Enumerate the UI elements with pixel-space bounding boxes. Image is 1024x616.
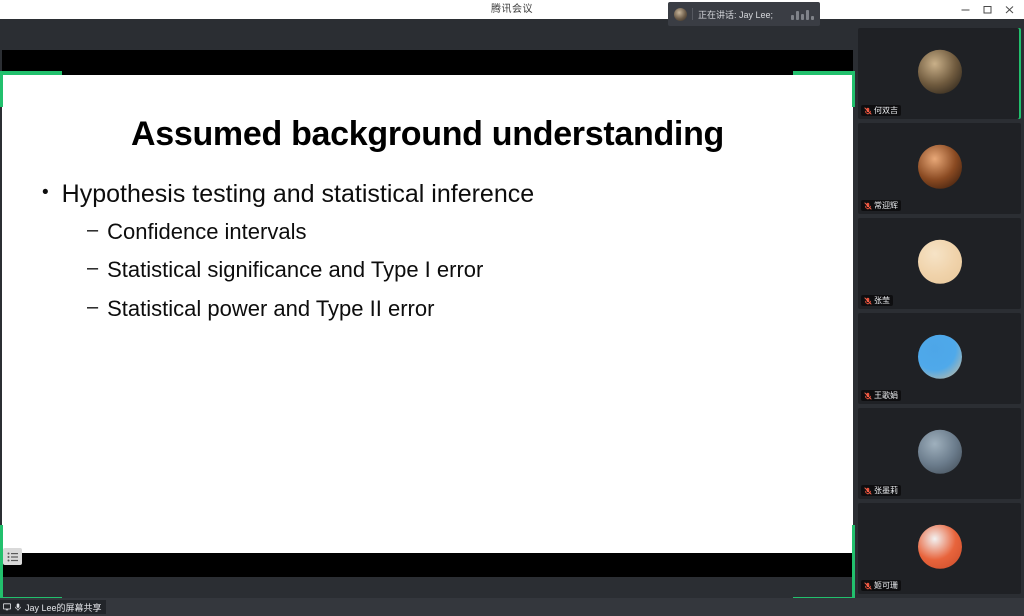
title-bar: 腾讯会议 xyxy=(0,0,1024,19)
slide-body: • Hypothesis testing and statistical inf… xyxy=(42,179,832,333)
avatar xyxy=(918,239,962,283)
share-border-left-bottom xyxy=(0,525,3,601)
maximize-icon[interactable] xyxy=(976,0,998,19)
bullet-text: Confidence intervals xyxy=(107,218,306,246)
participant-name: 张墨莉 xyxy=(874,485,898,496)
divider xyxy=(692,8,693,20)
participant-name-chip: 王歌娟 xyxy=(861,390,901,401)
avatar xyxy=(918,334,962,378)
microphone-muted-icon xyxy=(864,107,872,115)
window-title: 腾讯会议 xyxy=(0,0,1024,19)
microphone-muted-icon xyxy=(864,297,872,305)
bullet-text: Hypothesis testing and statistical infer… xyxy=(62,179,534,210)
share-border-top-right xyxy=(793,71,855,75)
avatar xyxy=(918,429,962,473)
bullet-marker: – xyxy=(87,295,98,321)
participant-tile[interactable]: 张莹 xyxy=(858,218,1021,309)
participant-tile[interactable]: 张墨莉 xyxy=(858,408,1021,499)
active-speaker-label: 正在讲话: Jay Lee; xyxy=(698,8,773,21)
minimize-icon[interactable] xyxy=(954,0,976,19)
avatar xyxy=(918,144,962,188)
participant-name: 王歌娟 xyxy=(874,390,898,401)
microphone-icon xyxy=(14,603,22,611)
bullet-marker: – xyxy=(87,256,98,282)
screen-share-label: Jay Lee的屏幕共享 xyxy=(25,601,102,614)
monitor-icon xyxy=(3,603,11,611)
microphone-muted-icon xyxy=(864,392,872,400)
active-speaker-pill[interactable]: 正在讲话: Jay Lee; xyxy=(668,2,820,26)
participant-name-chip: 张莹 xyxy=(861,295,893,306)
microphone-muted-icon xyxy=(864,582,872,590)
status-bar: Jay Lee的屏幕共享 xyxy=(0,598,1024,616)
share-border-right-bottom xyxy=(852,525,855,601)
participant-name-chip: 何双吉 xyxy=(861,105,901,116)
participant-name: 常迎辉 xyxy=(874,200,898,211)
participant-name: 姬可珊 xyxy=(874,580,898,591)
window-controls xyxy=(954,0,1020,19)
bullet-level2: – Statistical significance and Type I er… xyxy=(87,256,832,284)
participant-tile[interactable]: 何双吉 xyxy=(858,28,1021,119)
bullet-level2: – Confidence intervals xyxy=(87,218,832,246)
participant-name-chip: 常迎辉 xyxy=(861,200,901,211)
participant-rail[interactable]: 何双吉常迎辉张莹王歌娟张墨莉姬可珊 xyxy=(856,28,1024,600)
presentation-slide: Assumed background understanding • Hypot… xyxy=(2,75,853,553)
bullet-marker: • xyxy=(42,179,49,207)
bullet-level1: • Hypothesis testing and statistical inf… xyxy=(42,179,832,210)
audio-wave-icon xyxy=(791,8,814,20)
screen-share-status: Jay Lee的屏幕共享 xyxy=(0,600,106,614)
participant-name: 张莹 xyxy=(874,295,890,306)
shared-screen-region: Assumed background understanding • Hypot… xyxy=(0,27,855,602)
share-border-top-left xyxy=(0,71,62,75)
participant-tile[interactable]: 常迎辉 xyxy=(858,123,1021,214)
avatar xyxy=(918,524,962,568)
tencent-meeting-window: 腾讯会议 正在讲话: Jay Lee; Assumed background u… xyxy=(0,0,1024,616)
participant-tile[interactable]: 姬可珊 xyxy=(858,503,1021,594)
speaker-avatar-icon xyxy=(674,8,687,21)
avatar xyxy=(918,49,962,93)
bullet-marker: – xyxy=(87,218,98,244)
slideshow-menu-icon[interactable] xyxy=(3,548,22,565)
bullet-level2: – Statistical power and Type II error xyxy=(87,295,832,323)
participant-tile[interactable]: 王歌娟 xyxy=(858,313,1021,404)
share-border-left-top xyxy=(0,71,3,107)
bullet-text: Statistical power and Type II error xyxy=(107,295,434,323)
participant-name-chip: 姬可珊 xyxy=(861,580,901,591)
microphone-muted-icon xyxy=(864,202,872,210)
slide-title: Assumed background understanding xyxy=(2,115,853,154)
close-icon[interactable] xyxy=(998,0,1020,19)
participant-name: 何双吉 xyxy=(874,105,898,116)
bullet-text: Statistical significance and Type I erro… xyxy=(107,256,483,284)
participant-name-chip: 张墨莉 xyxy=(861,485,901,496)
share-border-right-top xyxy=(852,71,855,107)
microphone-muted-icon xyxy=(864,487,872,495)
